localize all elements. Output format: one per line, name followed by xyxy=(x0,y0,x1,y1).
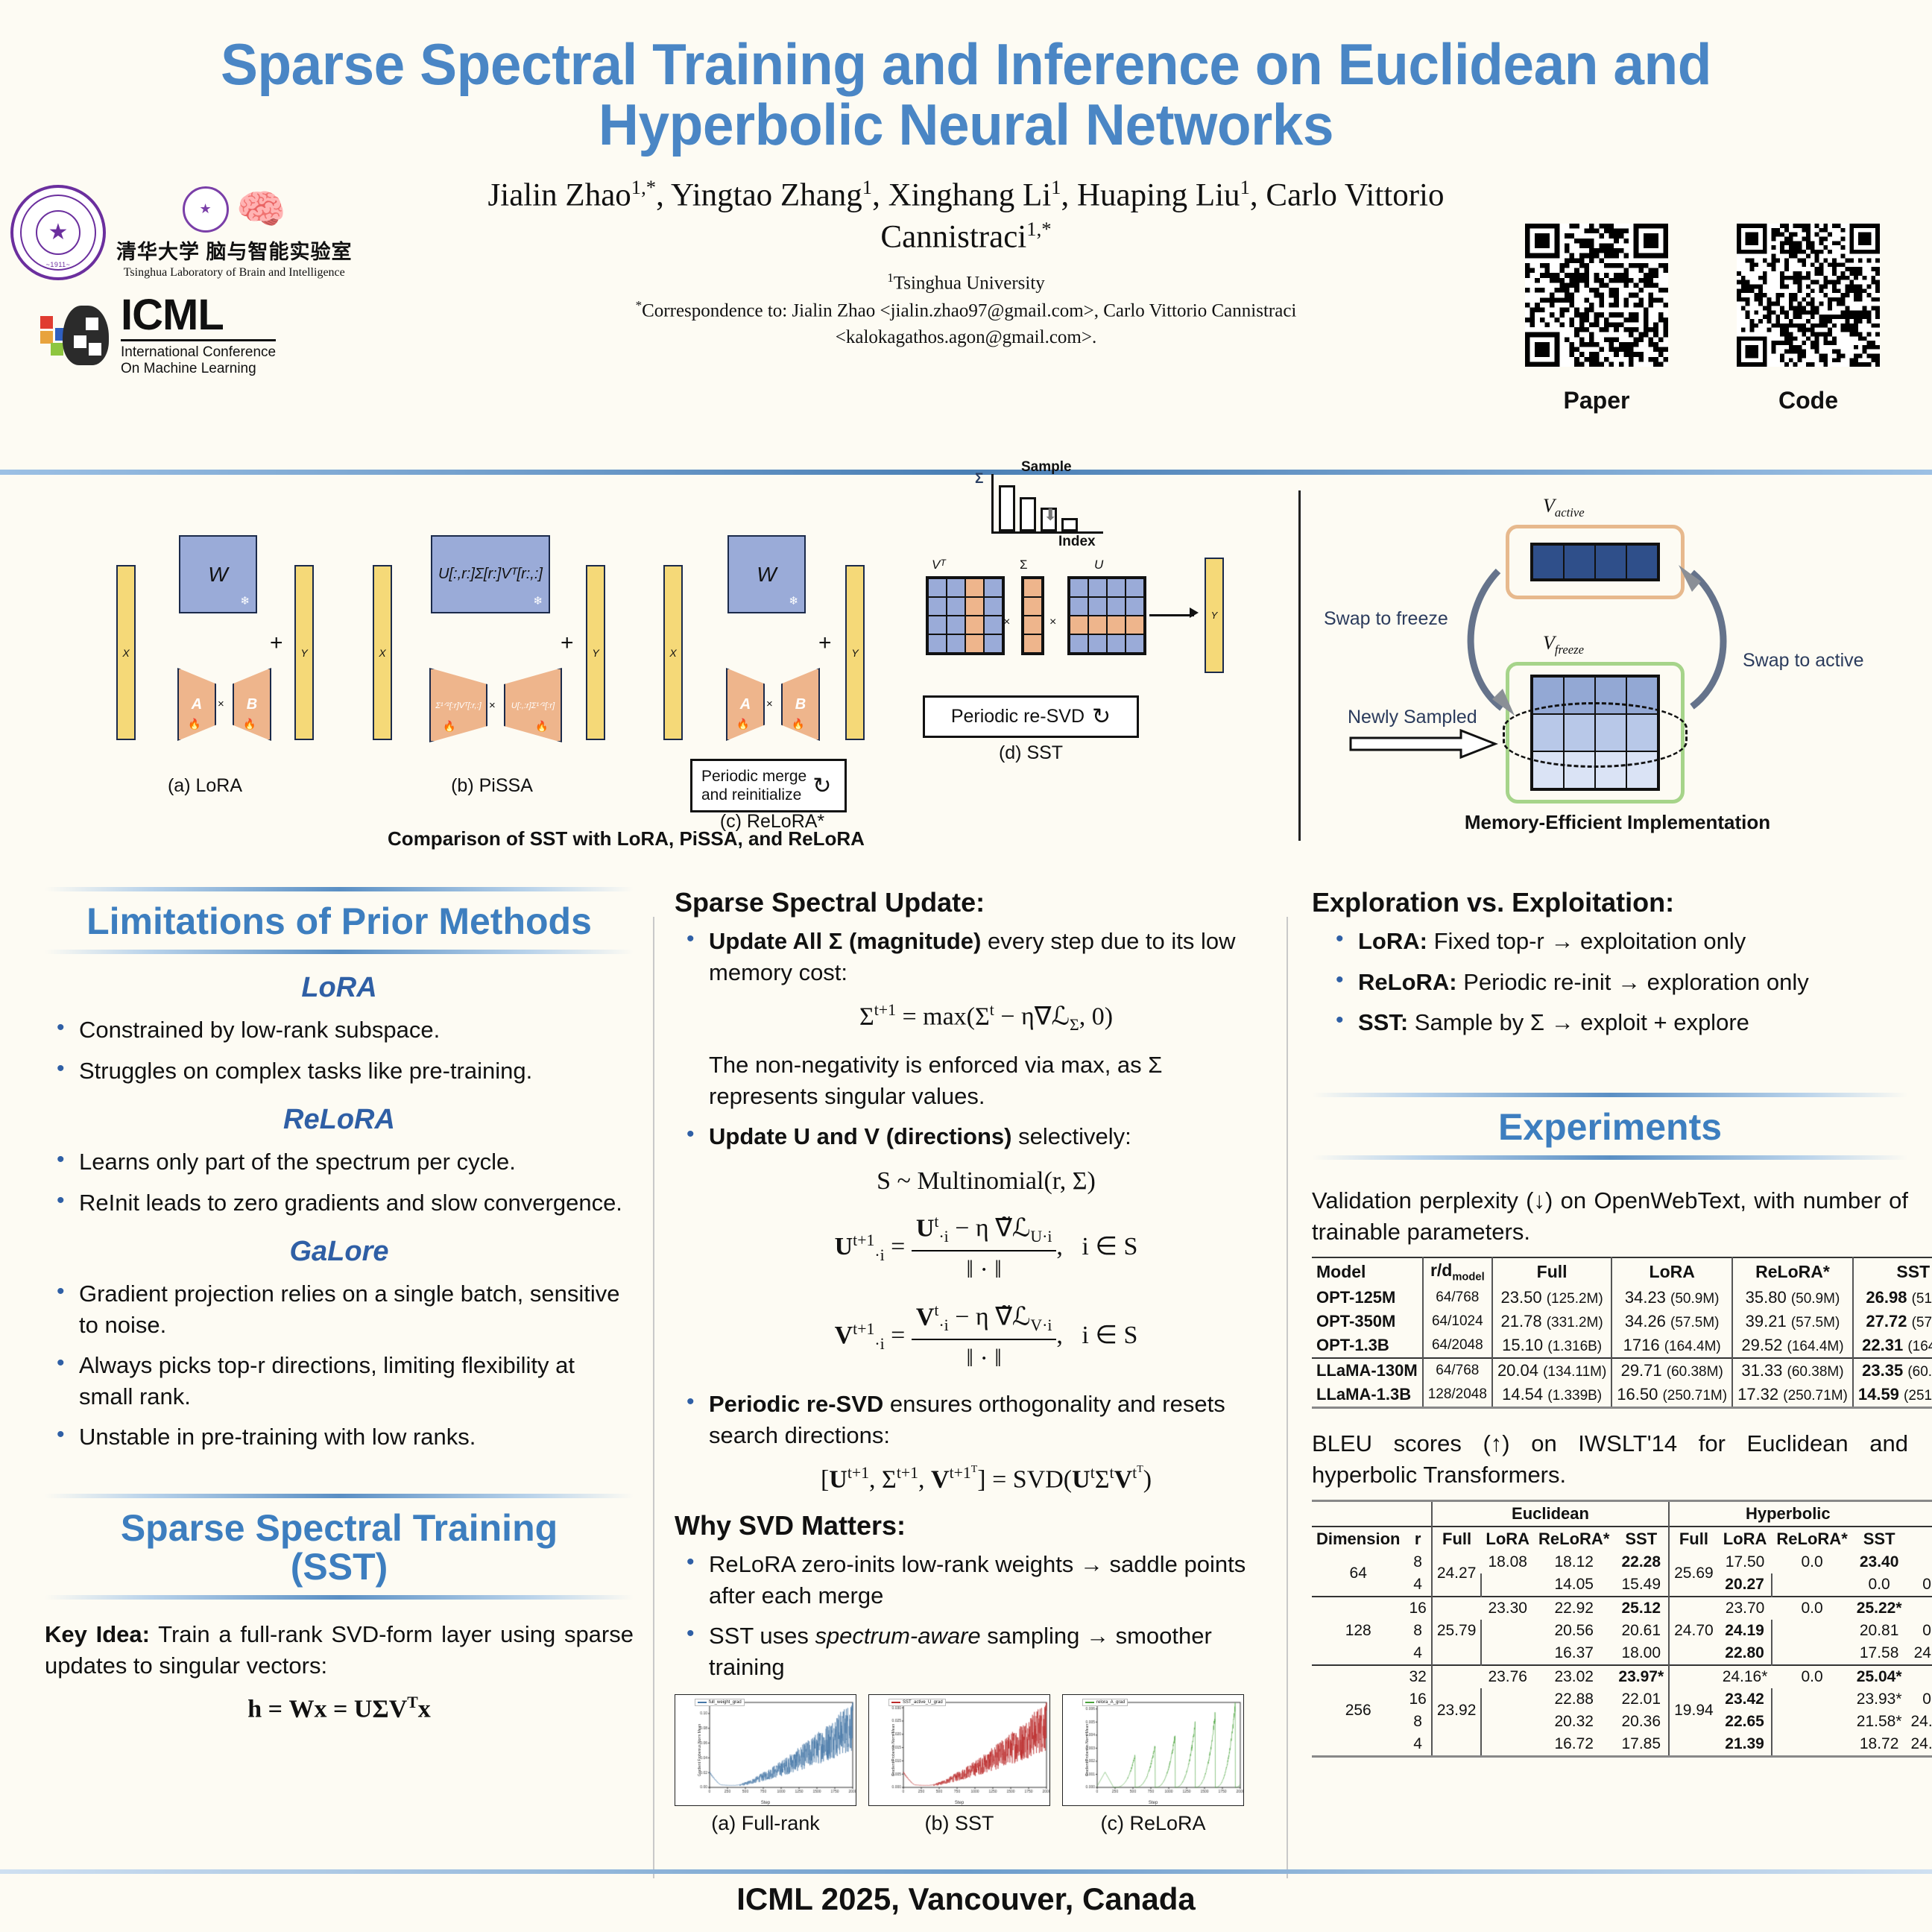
key-idea-label: Key Idea: xyxy=(45,1621,150,1647)
panel-pissa: X U[:,r:]Σ[r:]Vᵀ[r:,:] ❄ Σ¹ᐟ²[:r]Vᵀ[:r,:… xyxy=(365,513,619,781)
figure-caption-right: Memory-Efficient Implementation xyxy=(1386,811,1849,834)
qr-paper-image[interactable] xyxy=(1525,224,1668,367)
table2-caption: BLEU scores (↑) on IWSLT'14 for Euclidea… xyxy=(1312,1428,1908,1491)
refresh-loop-icon: ↻ xyxy=(1092,704,1111,730)
v-active-label: Vactive xyxy=(1543,495,1585,520)
table-row: 1281625.7923.3022.9225.1224.7023.700.025… xyxy=(1312,1597,1932,1620)
equation-resvd: [Ut+1, Σt+1, Vt+1T] = SVD(UtΣtVtT) xyxy=(709,1462,1263,1497)
logo-block: ★ ~1911~ ★ 🧠 清华大学 脑与智能实验室 Tsinghua Labor… xyxy=(10,185,428,377)
panel-pissa-caption: (b) PiSSA xyxy=(395,775,589,797)
list-item: Unstable in pre-training with low ranks. xyxy=(49,1421,634,1453)
times-symbol: × xyxy=(1003,616,1010,629)
list-item: SST: Sample by Σ → exploit + explore xyxy=(1328,1007,1908,1038)
newly-sampled-arrow-icon xyxy=(1349,729,1498,759)
v-freeze-label: Vfreeze xyxy=(1543,632,1584,657)
table-row: LLaMA-130M64/76820.04 (134.11M)29.71 (60… xyxy=(1312,1358,1932,1383)
bullets-lora: Constrained by low-rank subspace. Strugg… xyxy=(49,1014,634,1086)
table-row: OPT-1.3B64/204815.10 (1.316B)1716 (164.4… xyxy=(1312,1333,1932,1358)
fire-icon: 🔥 xyxy=(736,718,749,730)
panel-pissa-input: X xyxy=(373,565,392,740)
fire-icon: 🔥 xyxy=(792,718,804,730)
fire-icon: 🔥 xyxy=(443,720,455,733)
affiliation-name: Tsinghua University xyxy=(894,273,1045,293)
qr-code-image[interactable] xyxy=(1737,224,1880,367)
panel-pissa-left-factor: Σ¹ᐟ²[:r]Vᵀ[:r,:] xyxy=(429,668,487,742)
table-perplexity-wrap: Modelr/dmodelFullLoRAReLoRA*SSTOPT-125M6… xyxy=(1312,1257,1908,1409)
index-label: Index xyxy=(1058,534,1096,550)
swap-to-active-label: Swap to active xyxy=(1743,650,1864,672)
brain-icon: 🧠 xyxy=(236,189,286,230)
plot-card-relora: relora_A_grad Gradient Frobenius Norm Me… xyxy=(1062,1694,1244,1835)
panel-relora-note: Periodic merge and reinitialize ↻ xyxy=(690,759,847,812)
equation-sigma-update: Σt+1 = max(Σt − η∇ℒΣ, 0) xyxy=(709,1000,1263,1036)
bullets-galore: Gradient projection relies on a single b… xyxy=(49,1278,634,1453)
lab-name-cn: 清华大学 脑与智能实验室 xyxy=(116,236,353,265)
panel-sst-caption: (d) SST xyxy=(923,742,1139,764)
panel-pissa-output: Y xyxy=(586,565,605,740)
figure-caption-left: Comparison of SST with LoRA, PiSSA, and … xyxy=(253,827,999,850)
plot-xlabel: Step xyxy=(1063,1801,1243,1805)
plot-ylabel: Gradient Frobenius Norm Mean xyxy=(891,1724,896,1776)
panel-relora-w-box: W ❄ xyxy=(727,535,806,613)
plot-full-rank: full_weight_grad Gradient Frobenius Norm… xyxy=(675,1694,856,1806)
table-row: 820.3220.3622.6521.58*24.02*24.67* xyxy=(1312,1711,1932,1733)
plot-sst: SST_active_U_grad Gradient Frobenius Nor… xyxy=(868,1694,1050,1806)
list-item: Learns only part of the spectrum per cyc… xyxy=(49,1146,634,1178)
explore-bullets: LoRA: Fixed top-r → exploitation only Re… xyxy=(1328,926,1908,1038)
plot-relora: relora_A_grad Gradient Frobenius Norm Me… xyxy=(1062,1694,1244,1806)
equation-sampling: S ~ Multinomial(r, Σ) xyxy=(709,1164,1263,1199)
refresh-loop-icon: ↻ xyxy=(812,773,831,799)
correspondence-line-1: *Correspondence to: Jialin Zhao <jialin.… xyxy=(433,297,1499,324)
panel-pissa-right-factor: U[:,:r]Σ¹ᐟ²[:r] xyxy=(504,668,562,742)
title-line-1: Sparse Spectral Training and Inference o… xyxy=(124,34,1808,95)
swap-to-freeze-label: Swap to freeze xyxy=(1324,608,1448,630)
list-item: LoRA: Fixed top-r → exploitation only xyxy=(1328,926,1908,957)
icml-sub-2: On Machine Learning xyxy=(121,361,276,377)
plot-ylabel: Gradient Frobenius Norm Mean xyxy=(1085,1724,1090,1776)
panel-lora: X W ❄ A × B 🔥 🔥 + Y (a) LoRA xyxy=(104,513,328,781)
gradient-plots: full_weight_grad Gradient Frobenius Norm… xyxy=(675,1694,1263,1835)
correspondence-line-2: <kalokagathos.agon@gmail.com>. xyxy=(433,324,1499,351)
figure-band: X W ❄ A × B 🔥 🔥 + Y (a) LoRA xyxy=(0,483,1932,871)
sst-title-line-1: Sparse Spectral Training xyxy=(45,1509,634,1547)
table-row: 820.5620.6124.1920.810.025.12* xyxy=(1312,1620,1932,1642)
times-symbol: × xyxy=(1049,616,1056,629)
qr-paper[interactable]: Paper xyxy=(1525,224,1668,414)
snowflake-icon: ❄ xyxy=(240,594,250,607)
figure-divider xyxy=(1298,490,1301,841)
list-item: ReLoRA: Periodic re-init → exploration o… xyxy=(1328,967,1908,998)
author-list: Jialin Zhao1,*, Yingtao Zhang1, Xinghang… xyxy=(433,174,1499,257)
list-item: Constrained by low-rank subspace. xyxy=(49,1014,634,1046)
equation-v-update: Vt+1·i = Vt·i − η ∇̃ℒV·i‖ · ‖, i ∈ S xyxy=(709,1300,1263,1375)
list-item: ReLoRA zero-inits low-rank weights → sad… xyxy=(679,1549,1263,1611)
lab-name-en: Tsinghua Laboratory of Brain and Intelli… xyxy=(124,266,345,280)
key-idea-paragraph: Key Idea: Train a full-rank SVD-form lay… xyxy=(45,1619,634,1682)
mini-seal-icon: ★ xyxy=(183,186,229,233)
table-row: 416.3718.0022.8017.5824.4224.60 xyxy=(1312,1642,1932,1665)
times-symbol: × xyxy=(218,698,224,710)
list-item: ReInit leads to zero gradients and slow … xyxy=(49,1187,634,1219)
plot-card-full-rank: full_weight_grad Gradient Frobenius Norm… xyxy=(675,1694,856,1835)
icml-head-icon xyxy=(40,301,109,370)
u-label: U xyxy=(1094,558,1103,572)
snowflake-icon: ❄ xyxy=(533,594,543,607)
vt-label: Vᵀ xyxy=(932,558,945,572)
matrix-vt xyxy=(926,576,1005,655)
down-arrow-icon: ⬇ xyxy=(1044,505,1057,525)
list-item: Always picks top-r directions, limiting … xyxy=(49,1350,634,1412)
qr-code-label: Code xyxy=(1737,387,1880,414)
explore-heading: Exploration vs. Exploitation: xyxy=(1312,887,1908,918)
affiliation-block: 1Tsinghua University *Correspondence to:… xyxy=(433,269,1499,350)
times-symbol: × xyxy=(766,698,773,710)
section-title-limitations: Limitations of Prior Methods xyxy=(45,891,634,950)
table1-caption: Validation perplexity (↓) on OpenWebText… xyxy=(1312,1185,1908,1248)
v-active-box xyxy=(1506,525,1685,599)
subhead-galore: GaLore xyxy=(45,1236,634,1268)
why-svd-heading: Why SVD Matters: xyxy=(675,1510,1263,1541)
plus-symbol: + xyxy=(561,631,574,656)
table-row: OPT-125M64/76823.50 (125.2M)34.23 (50.9M… xyxy=(1312,1286,1932,1310)
plot-legend-relora: relora_A_grad xyxy=(1082,1699,1128,1706)
panel-relora-output: Y xyxy=(845,565,865,740)
table-bleu: EuclideanHyperbolicDimensionrFullLoRAReL… xyxy=(1312,1500,1932,1758)
snowflake-icon: ❄ xyxy=(789,594,798,607)
plot-xlabel: Step xyxy=(869,1801,1049,1805)
table-row: 414.0515.4920.270.00.023.03 xyxy=(1312,1573,1932,1597)
title-line-2: Hyperbolic Neural Networks xyxy=(124,95,1808,155)
update-heading: Sparse Spectral Update: xyxy=(675,887,1263,918)
newly-sampled-label: Newly Sampled xyxy=(1348,707,1477,728)
footer-divider xyxy=(0,1869,1932,1874)
plus-symbol: + xyxy=(270,631,283,656)
sample-label: Sample xyxy=(1021,459,1072,476)
sigma-histogram: Σ ⬇ xyxy=(991,474,1103,534)
times-symbol: × xyxy=(489,699,496,712)
method-comparison-figure: X W ❄ A × B 🔥 🔥 + Y (a) LoRA xyxy=(104,483,1289,856)
memory-implementation-figure: Vactive Vfreeze xyxy=(1319,483,1916,856)
subhead-relora: ReLoRA xyxy=(45,1104,634,1136)
panel-sst-note: Periodic re-SVD ↻ xyxy=(923,695,1139,738)
fire-icon: 🔥 xyxy=(243,718,256,730)
panel-lora-caption: (a) LoRA xyxy=(119,775,291,797)
subhead-lora: LoRA xyxy=(45,972,634,1004)
tsinghua-seal-icon: ★ ~1911~ xyxy=(10,185,106,280)
qr-paper-label: Paper xyxy=(1525,387,1668,414)
equation-u-update: Ut+1·i = Ut·i − η ∇̃ℒU·i‖ · ‖, i ∈ S xyxy=(709,1211,1263,1287)
key-idea-equation: h = Wx = UΣVTx xyxy=(45,1693,634,1723)
table-row: 1622.8822.0123.4223.93*0.025.52* xyxy=(1312,1688,1932,1711)
fire-icon: 🔥 xyxy=(188,718,201,730)
matrix-u xyxy=(1067,576,1146,655)
equation-sigma-note: The non-negativity is enforced via max, … xyxy=(709,1049,1263,1111)
arrow-line xyxy=(1149,614,1194,616)
section-title-experiments: Experiments xyxy=(1312,1097,1908,1155)
sampled-highlight xyxy=(1503,702,1688,768)
panel-lora-w-box: W ❄ xyxy=(179,535,257,613)
page-title: Sparse Spectral Training and Inference o… xyxy=(39,0,1893,155)
table-row: 2563223.9223.7623.0223.97*19.9424.16*0.0… xyxy=(1312,1665,1932,1688)
icml-wordmark: ICML xyxy=(121,294,276,337)
plot-caption-full-rank: (a) Full-rank xyxy=(675,1812,856,1835)
bullets-relora: Learns only part of the spectrum per cyc… xyxy=(49,1146,634,1218)
qr-code-link[interactable]: Code xyxy=(1737,224,1880,414)
plot-legend-sst: SST_active_U_grad xyxy=(888,1699,946,1706)
plus-symbol: + xyxy=(818,631,832,656)
plot-xlabel: Step xyxy=(675,1801,856,1805)
table-perplexity: Modelr/dmodelFullLoRAReLoRA*SSTOPT-125M6… xyxy=(1312,1257,1932,1409)
panel-relora-input: X xyxy=(663,565,683,740)
plot-card-sst: SST_active_U_grad Gradient Frobenius Nor… xyxy=(868,1694,1050,1835)
list-item: Update All Σ (magnitude) every step due … xyxy=(679,926,1263,1111)
panel-pissa-w-box: U[:,r:]Σ[r:]Vᵀ[r:,:] ❄ xyxy=(431,535,550,613)
table-bleu-wrap: EuclideanHyperbolicDimensionrFullLoRAReL… xyxy=(1312,1500,1908,1758)
column-method: Sparse Spectral Update: Update All Σ (ma… xyxy=(675,887,1263,1835)
poster-root: Sparse Spectral Training and Inference o… xyxy=(0,0,1932,1932)
list-item: Gradient projection relies on a single b… xyxy=(49,1278,634,1340)
plot-legend-full-rank: full_weight_grad xyxy=(695,1699,745,1706)
panel-relora: X W ❄ A × B 🔥 🔥 + Y Periodic mer xyxy=(656,513,902,811)
arrow-head-icon xyxy=(1190,607,1199,618)
panel-sst: Σ ⬇ Sample Index Vᵀ Σ U × xyxy=(932,468,1282,818)
sigma-label: Σ xyxy=(1020,558,1028,572)
fire-icon: 🔥 xyxy=(535,720,548,733)
panel-lora-output: Y xyxy=(294,565,314,740)
column-divider-1 xyxy=(653,917,654,1878)
qr-block: Paper Code xyxy=(1525,224,1880,414)
update-bullets: Update All Σ (magnitude) every step due … xyxy=(679,926,1263,1497)
list-item: Periodic re-SVD ensures orthogonality an… xyxy=(679,1389,1263,1497)
sst-title-line-2: (SST) xyxy=(45,1547,634,1586)
tsinghua-lab-logo: ★ 🧠 清华大学 脑与智能实验室 Tsinghua Laboratory of … xyxy=(116,186,353,280)
why-svd-bullets: ReLoRA zero-inits low-rank weights → sad… xyxy=(679,1549,1263,1682)
footer-text: ICML 2025, Vancouver, Canada xyxy=(0,1881,1932,1917)
icml-logo: ICML International Conference On Machine… xyxy=(40,294,428,377)
panel-sst-output: Y xyxy=(1205,558,1224,673)
table-row: 416.7217.8521.3918.7224.08*24.51* xyxy=(1312,1733,1932,1757)
section-title-sst: Sparse Spectral Training (SST) xyxy=(45,1498,634,1595)
icml-sub-1: International Conference xyxy=(121,344,276,361)
column-results: Exploration vs. Exploitation: LoRA: Fixe… xyxy=(1312,887,1908,1758)
list-item: Update U and V (directions) selectively:… xyxy=(679,1121,1263,1375)
column-limitations: Limitations of Prior Methods LoRA Constr… xyxy=(45,887,634,1737)
table-row: LLaMA-1.3B128/204814.54 (1.339B)16.50 (2… xyxy=(1312,1383,1932,1408)
column-divider-2 xyxy=(1287,917,1288,1878)
list-item: Struggles on complex tasks like pre-trai… xyxy=(49,1055,634,1087)
affiliation-line: 1Tsinghua University xyxy=(433,269,1499,297)
table-row: OPT-350M64/102421.78 (331.2M)34.26 (57.5… xyxy=(1312,1310,1932,1333)
plot-caption-sst: (b) SST xyxy=(868,1812,1050,1835)
panel-lora-input: X xyxy=(116,565,136,740)
matrix-sigma xyxy=(1021,576,1044,655)
table-row: 64824.2718.0818.1222.2825.6917.500.023.4… xyxy=(1312,1551,1932,1573)
plot-ylabel: Gradient Frobenius Norm Mean xyxy=(698,1724,702,1776)
list-item: SST uses spectrum-aware sampling → smoot… xyxy=(679,1620,1263,1682)
plot-caption-relora: (c) ReLoRA xyxy=(1062,1812,1244,1835)
